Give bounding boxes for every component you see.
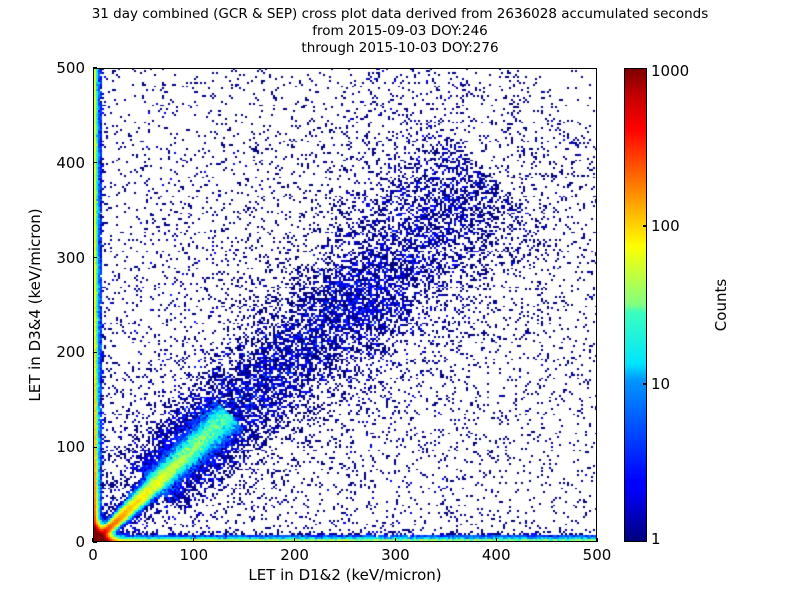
chart-title-line-2: from 2015-09-03 DOY:246 [0, 23, 800, 40]
y-axis-tick [93, 352, 97, 353]
y-axis-tick [93, 257, 97, 258]
x-axis-tick [193, 538, 194, 542]
x-axis-tick-label: 400 [482, 546, 511, 564]
colorbar-tick [643, 383, 647, 384]
x-axis-label: LET in D1&2 (keV/micron) [93, 566, 597, 584]
colorbar-tick-label: 10 [651, 375, 670, 393]
x-axis-tick [294, 538, 295, 542]
figure-canvas: 31 day combined (GCR & SEP) cross plot d… [0, 0, 800, 600]
colorbar-tick-label: 1 [651, 530, 661, 548]
colorbar [624, 68, 647, 542]
colorbar-gradient [625, 69, 646, 541]
colorbar-body [624, 68, 647, 542]
chart-title-line-1: 31 day combined (GCR & SEP) cross plot d… [0, 6, 800, 23]
x-axis-tick-label: 200 [280, 546, 309, 564]
x-axis-tick [596, 538, 597, 542]
chart-title: 31 day combined (GCR & SEP) cross plot d… [0, 6, 800, 57]
x-axis-tick [496, 538, 497, 542]
colorbar-tick-label: 100 [651, 217, 680, 235]
density-scatter-plot [94, 69, 597, 542]
x-axis-tick [395, 538, 396, 542]
plot-area [93, 68, 597, 542]
y-axis-tick [93, 447, 97, 448]
x-axis-tick-label: 500 [583, 546, 612, 564]
x-axis-tick-label: 100 [179, 546, 208, 564]
x-axis-tick-label: 300 [381, 546, 410, 564]
y-axis-tick [93, 541, 97, 542]
x-axis-tick-label: 0 [88, 546, 98, 564]
colorbar-tick [643, 225, 647, 226]
y-axis-tick [93, 162, 97, 163]
chart-title-line-3: through 2015-10-03 DOY:276 [0, 40, 800, 57]
colorbar-tick-label: 1000 [651, 62, 689, 80]
colorbar-label: Counts [712, 68, 730, 542]
y-axis-label: LET in D3&4 (keV/micron) [26, 68, 44, 542]
y-axis-tick [93, 67, 97, 68]
